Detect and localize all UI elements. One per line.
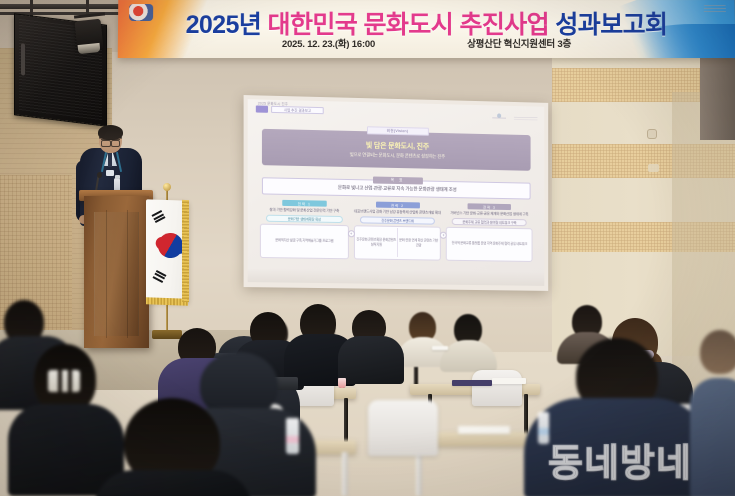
strategy-body: 진주문화 콘텐츠확장 문화콘텐츠 창작지원 문화·관광 연계 확산 콘텐츠 기반… [354,225,442,260]
banner-location: 상평산단 혁신지원센터 3층 [467,36,571,50]
strategy-tag: 전략 1 [282,200,327,207]
ministry-logo-icon [514,112,538,122]
strategy-column-1: 전략 1 창의·기반 활력강화 및 문화산업 전문인력 기반 구축 문화기반 생… [260,199,349,259]
vision-title: 빛 담은 문화도시, 진주 [366,140,429,151]
projection-screen-frame: 사업 추진 경과보고 2025 문화도시 진주 비전(Vision) 빛 담은 … [244,95,549,291]
microphone-icon [97,172,102,178]
presenter-tie [108,153,112,167]
speaker-side-strip [21,43,25,75]
goal-badge: 목 표 [372,176,422,184]
banner-subtitle-row: 2025. 12. 23.(화) 16:00 상평산단 혁신지원센터 3층 [118,36,735,50]
conference-photo: 2025년 대한민국 문화도시 추진사업 성과보고회 2025. 12. 23.… [0,0,735,496]
podium-seam [106,210,107,338]
event-banner: 2025년 대한민국 문화도시 추진사업 성과보고회 2025. 12. 23.… [118,0,735,58]
city-emblem-icon [492,111,506,122]
strategy-cell: 문화적자산 발굴 구축 지역예술가그룹 프로그램 [262,226,346,257]
strategy-pill: 진주문화 콘텐츠 브랜드화 [360,216,435,224]
strategy-tag: 전략 2 [375,202,419,209]
vision-subtitle: 빛으로 연결되는 문화도시, 문화 콘텐츠로 성장하는 진주 [350,152,445,160]
audience-head [700,330,735,374]
slide-header: 사업 추진 경과보고 [256,105,324,114]
podium-front-panel [94,212,139,336]
desk-leg [342,452,348,496]
flag-finial-icon [163,183,171,191]
audience-shoulders [338,336,404,384]
strategy-tag: 전략 3 [468,203,511,210]
hair-clip-icon [48,370,80,392]
vision-box: 빛 담은 문화도시, 진주 빛으로 연결되는 문화도시, 문화 콘텐츠로 성장하… [262,129,531,171]
presenter-id-badge [106,170,114,176]
chair-back [472,370,522,406]
strategy-pill: 문화주체 교류 협력과 참여형 네트워크 구축 [452,218,526,226]
banner-datetime: 2025. 12. 23.(화) 16:00 [282,36,375,50]
audience-shoulders [524,398,710,496]
strategy-row: 전략 1 창의·기반 활력강화 및 문화산업 전문인력 기반 구축 문화기반 생… [260,199,533,261]
flag-stand [152,330,182,339]
handout-paper [432,346,448,350]
strategy-pill: 문화기반 생태계확장 육성 [266,214,342,222]
audience-shoulders [94,470,252,496]
water-bottle [286,418,299,454]
slide-header-chip: 사업 추진 경과보고 [271,106,324,114]
paper-cup [338,378,346,388]
handout-paper [458,426,510,434]
chair-back [368,400,438,456]
projection-screen: 사업 추진 경과보고 2025 문화도시 진주 비전(Vision) 빛 담은 … [248,99,545,286]
presenter-hair [98,125,123,140]
desk-leg [344,398,348,442]
strategy-body: 전국적 문화교류 플랫폼 운영 지역 문화주체 협력 공유 네트워크 [446,227,532,262]
slide-header-marker-icon [256,105,268,112]
podium [84,196,149,348]
screen-glare [248,268,545,286]
banner-title-tail: 성과보고회 [555,11,667,39]
hair-clip-bar [68,370,72,392]
banner-title-main: 대한민국 문화도시 추진사업 [267,11,555,39]
presenter-glasses-icon [101,139,120,144]
slide-logo-row [492,111,537,123]
ceiling-truss [0,4,120,9]
hair-clip-bar [58,370,62,392]
strategy-cell: 문화·관광 연계 확산 콘텐츠 기반 관광 [399,228,439,258]
water-bottle [538,412,549,444]
podium-water-bottle-cap [115,175,120,179]
notebook [452,380,492,386]
strategy-body: 문화적자산 발굴 구축 지역예술가그룹 프로그램 [260,223,349,259]
handout-paper [492,378,526,384]
wall-sensor-icon [648,130,656,138]
strategy-cell: 전국적 문화교류 플랫폼 운영 지역 문화주체 협력 공유 네트워크 [449,229,531,259]
strategy-desc: 창의·기반 활력강화 및 문화산업 전문인력 기반 구축 [260,207,349,214]
audience-shoulders [690,378,735,496]
bottle-label [538,428,549,435]
slide-header-label: 2025 문화도시 진주 [258,100,288,106]
connector-plus-icon: + [348,230,355,237]
banner-title-year: 2025년 [186,11,268,39]
strategy-column-3: + 전략 3 거버넌스 기반 문화·교류·공유 체계와 문화산업 생태계 구축 … [446,203,532,262]
bottle-label [286,436,299,443]
strategy-column-2: + 전략 2 대표브랜드사업 강화 기반 남강 유등축제 산업화 콘텐츠개발 확… [354,201,442,260]
vision-badge: 비전(Vision) [366,126,428,135]
wall-outlet-icon [648,164,659,172]
strategy-desc: 대표브랜드사업 강화 기반 남강 유등축제 산업화 콘텐츠개발 확대 [354,209,442,216]
strategy-cell: 진주문화 콘텐츠확장 문화콘텐츠 창작지원 [356,228,397,258]
podium-seam [127,210,128,338]
strategy-desc: 거버넌스 기반 문화·교류·공유 체계와 문화산업 생태계 구축 [446,210,532,217]
flag-fringe [182,200,189,302]
